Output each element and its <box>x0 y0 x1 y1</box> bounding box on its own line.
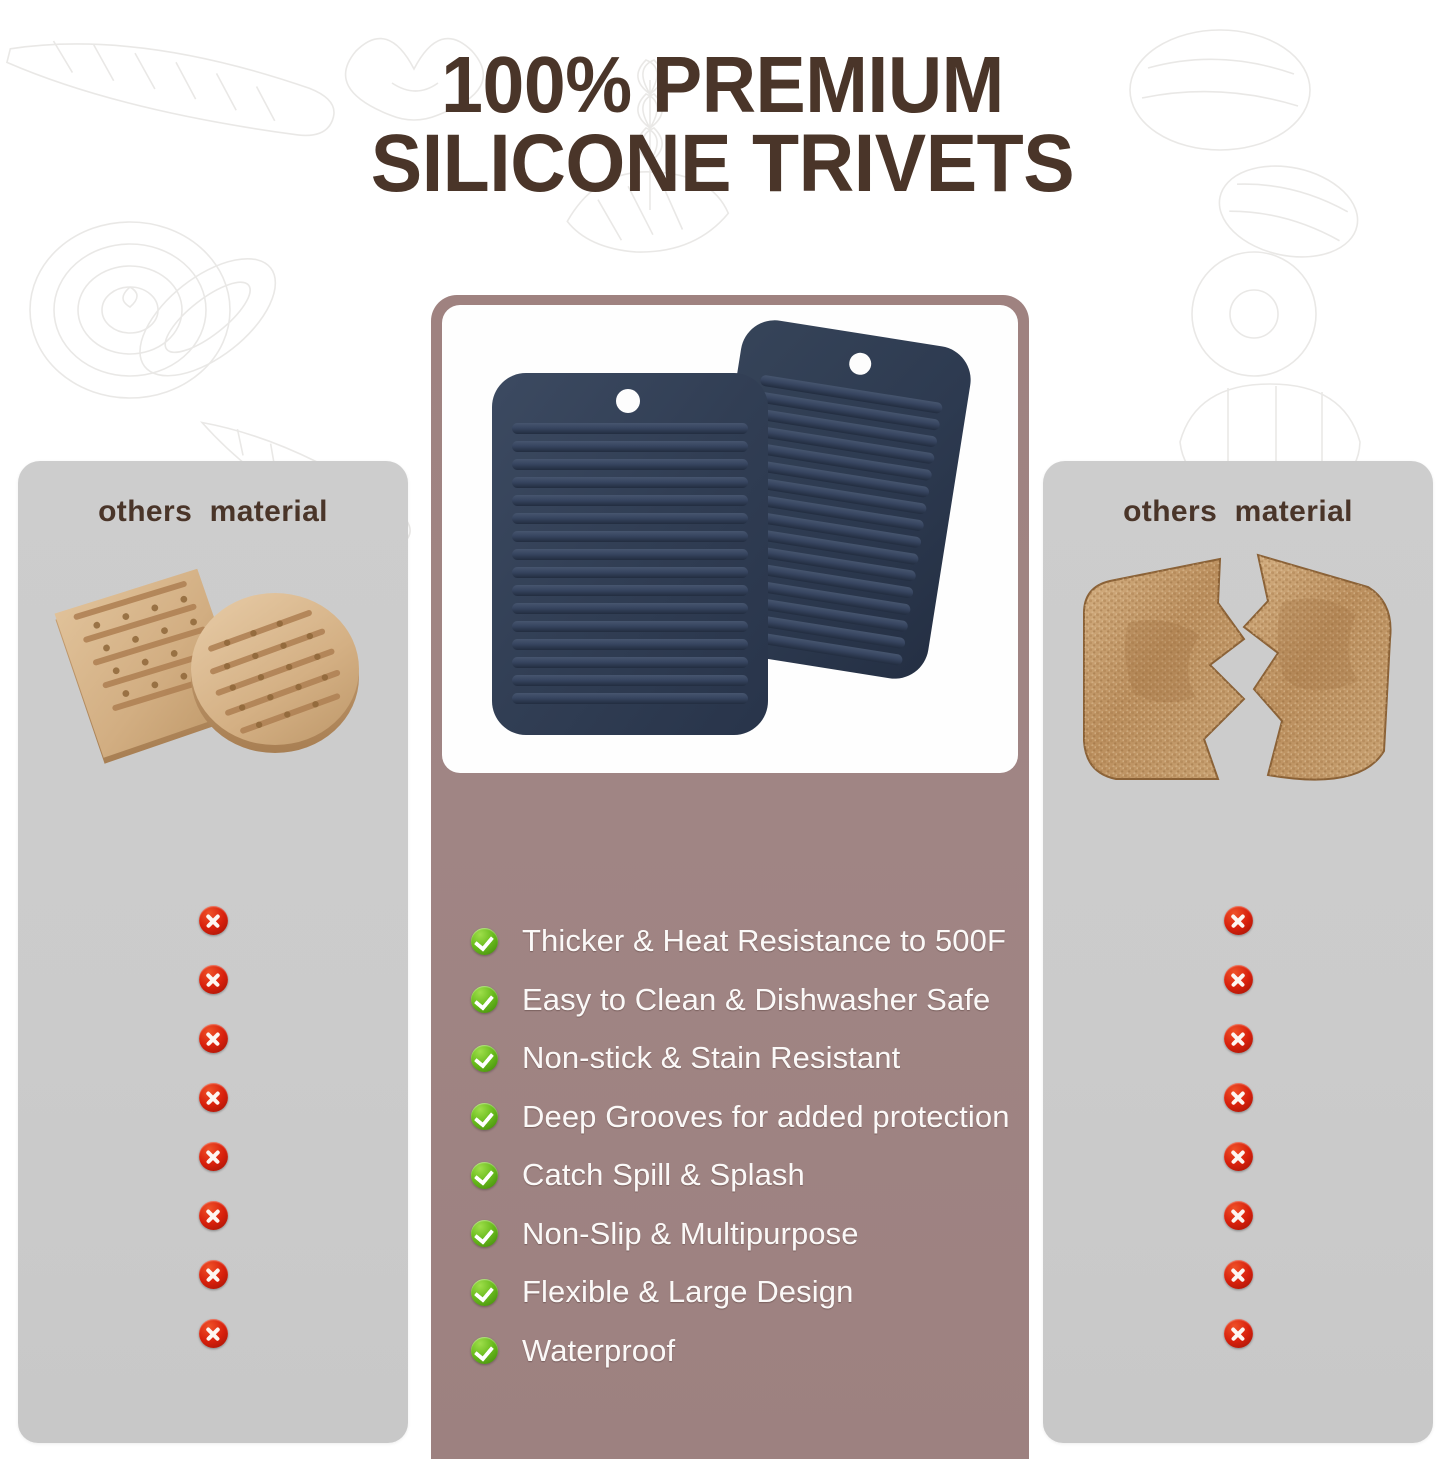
premium-silicone-panel: Thicker & Heat Resistance to 500F Easy t… <box>431 295 1029 1459</box>
feature-row: Non-Slip & Multipurpose <box>471 1205 1011 1264</box>
cross-icon <box>199 906 228 935</box>
mark-row <box>18 891 408 950</box>
cross-icon <box>199 1201 228 1230</box>
feature-row: Deep Grooves for added protection <box>471 1088 1011 1147</box>
cross-icon <box>199 1260 228 1289</box>
check-icon <box>471 1337 498 1364</box>
feature-label: Non-Slip & Multipurpose <box>522 1216 859 1252</box>
mark-row <box>1043 1009 1433 1068</box>
feature-row: Easy to Clean & Dishwasher Safe <box>471 971 1011 1030</box>
feature-label: Thicker & Heat Resistance to 500F <box>522 923 1006 959</box>
cork-piece-left <box>1084 559 1244 779</box>
feature-row: Waterproof <box>471 1322 1011 1381</box>
mark-row <box>18 1304 408 1363</box>
feature-label: Catch Spill & Splash <box>522 1157 805 1193</box>
mark-row <box>1043 1304 1433 1363</box>
left-panel-mark-list <box>18 891 408 1363</box>
feature-label: Waterproof <box>522 1333 675 1369</box>
cross-icon <box>199 1142 228 1171</box>
mark-row <box>1043 1068 1433 1127</box>
check-icon <box>471 1103 498 1130</box>
cross-icon <box>1224 906 1253 935</box>
check-icon <box>471 1220 498 1247</box>
cross-icon <box>1224 1142 1253 1171</box>
cross-icon <box>199 1083 228 1112</box>
cork-piece-right <box>1244 555 1391 780</box>
title-line-1: 100% PREMIUM <box>441 40 1004 129</box>
product-image-frame <box>442 305 1018 773</box>
cross-icon <box>199 965 228 994</box>
title-line-2: SILICONE TRIVETS <box>43 124 1401 204</box>
mark-row <box>1043 1245 1433 1304</box>
feature-row: Non-stick & Stain Resistant <box>471 1029 1011 1088</box>
mark-row <box>1043 1127 1433 1186</box>
page-title: 100% PREMIUM SILICONE TRIVETS <box>43 46 1401 205</box>
cross-icon <box>1224 1083 1253 1112</box>
right-panel-title: others material <box>1043 495 1433 529</box>
cross-icon <box>199 1024 228 1053</box>
cross-icon <box>1224 1201 1253 1230</box>
mark-row <box>1043 891 1433 950</box>
cross-icon <box>1224 1260 1253 1289</box>
check-icon <box>471 1162 498 1189</box>
check-icon <box>471 986 498 1013</box>
feature-row: Thicker & Heat Resistance to 500F <box>471 912 1011 971</box>
feature-list: Thicker & Heat Resistance to 500F Easy t… <box>471 912 1011 1380</box>
bamboo-trivets-image <box>43 543 383 793</box>
mark-row <box>18 1245 408 1304</box>
mark-row <box>1043 1186 1433 1245</box>
feature-label: Non-stick & Stain Resistant <box>522 1040 900 1076</box>
cross-icon <box>1224 965 1253 994</box>
check-icon <box>471 928 498 955</box>
mark-row <box>18 1127 408 1186</box>
left-panel-title: others material <box>18 495 408 529</box>
others-material-panel-right: others material <box>1043 461 1433 1443</box>
mark-row <box>1043 950 1433 1009</box>
feature-label: Deep Grooves for added protection <box>522 1099 1010 1135</box>
mark-row <box>18 1009 408 1068</box>
mark-row <box>18 1186 408 1245</box>
check-icon <box>471 1279 498 1306</box>
check-icon <box>471 1045 498 1072</box>
broken-cork-trivet-image <box>1068 543 1408 793</box>
mark-row <box>18 1068 408 1127</box>
feature-label: Easy to Clean & Dishwasher Safe <box>522 982 990 1018</box>
navy-silicone-trivets-image <box>442 305 1018 773</box>
feature-row: Flexible & Large Design <box>471 1263 1011 1322</box>
cross-icon <box>199 1319 228 1348</box>
right-panel-mark-list <box>1043 891 1433 1363</box>
cross-icon <box>1224 1319 1253 1348</box>
feature-label: Flexible & Large Design <box>522 1274 853 1310</box>
mark-row <box>18 950 408 1009</box>
feature-row: Catch Spill & Splash <box>471 1146 1011 1205</box>
others-material-panel-left: others material <box>18 461 408 1443</box>
cross-icon <box>1224 1024 1253 1053</box>
